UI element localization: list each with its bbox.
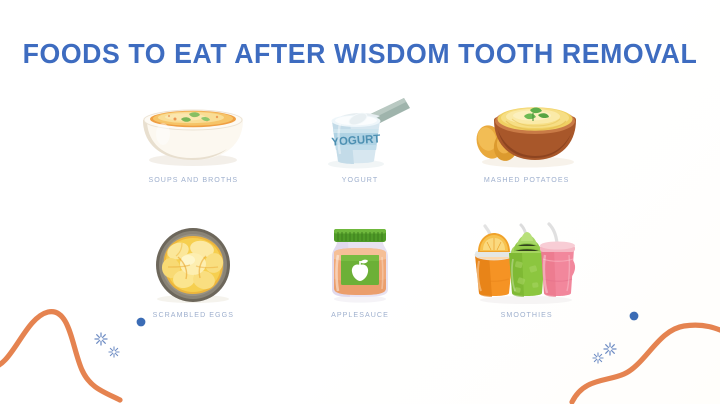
- food-item-soups-and-broths: SOUPS AND BROTHS: [110, 88, 277, 195]
- food-item-smoothies: SMOOTHIES: [443, 223, 610, 330]
- smoothies-icon: [452, 223, 602, 305]
- food-items-grid: SOUPS AND BROTHS: [110, 88, 610, 330]
- poster-canvas: FOODS TO EAT AFTER WISDOM TOOTH REMOVAL: [0, 0, 720, 404]
- food-item-label: SOUPS AND BROTHS: [148, 176, 238, 184]
- page-title: FOODS TO EAT AFTER WISDOM TOOTH REMOVAL: [11, 38, 709, 70]
- food-item-label: SMOOTHIES: [501, 311, 553, 319]
- food-item-label: APPLESAUCE: [331, 311, 389, 319]
- scrambled-eggs-icon: [118, 223, 268, 305]
- yogurt-cup-icon: YOGURT: [285, 88, 435, 170]
- food-item-scrambled-eggs: SCRAMBLED EGGS: [110, 223, 277, 330]
- sparkle-decoration-left: [90, 330, 126, 367]
- mashed-potatoes-icon: [452, 88, 602, 170]
- food-item-label: SCRAMBLED EGGS: [153, 311, 234, 319]
- food-item-label: YOGURT: [342, 176, 379, 184]
- food-item-mashed-potatoes: MASHED POTATOES: [443, 88, 610, 195]
- applesauce-jar-icon: [285, 223, 435, 305]
- food-item-yogurt: YOGURT YOGURT: [277, 88, 444, 195]
- food-item-applesauce: APPLESAUCE: [277, 223, 444, 330]
- food-item-label: MASHED POTATOES: [484, 176, 570, 184]
- soup-bowl-icon: [118, 88, 268, 170]
- dot-decoration-right: [628, 309, 640, 327]
- sparkle-decoration-right: [588, 340, 624, 377]
